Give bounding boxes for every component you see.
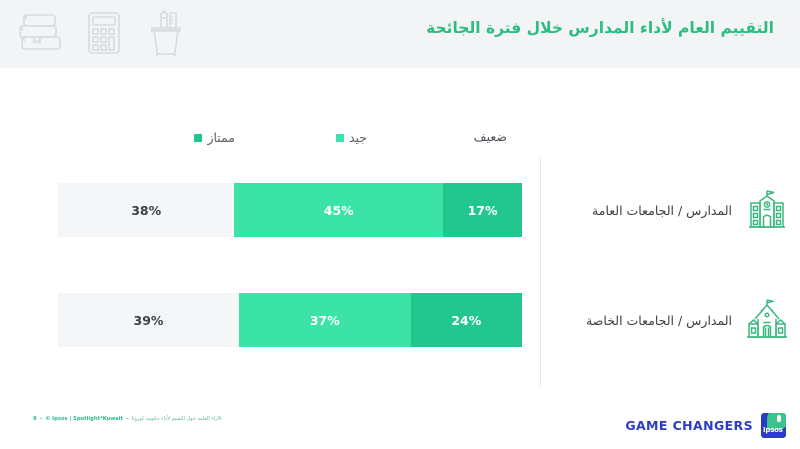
row-label-text-private: المدارس / الجامعات الخاصة [586,313,732,328]
logo-wordmark: Ipsos [763,426,783,434]
legend-item-excellent: ممتاز [194,130,235,145]
footer-arabic-note: الآراء العامة حول التقييم لأداء حكومة كو… [132,416,222,422]
legend-label-weak: ضعيف [474,129,507,144]
bar-segment-good: 37% [239,293,411,347]
stacked-bar-public: 17% 45% 38% [58,183,522,237]
footer-page-number: 8 [33,416,37,422]
brand-block: Ipsos GAME CHANGERS [625,413,786,438]
public-school-building-icon [742,185,792,235]
bar-segment-good: 45% [234,183,443,237]
tagline-game-changers: GAME CHANGERS [625,418,753,433]
ipsos-logo-icon: Ipsos [761,413,786,438]
bar-segment-weak: 39% [58,293,239,347]
bar-segment-excellent: 24% [411,293,522,347]
footer-dash-1: – [40,416,43,422]
legend-item-weak: ضعيف [469,129,507,144]
footer-dash-2: – [126,416,129,422]
logo-dot-shape [777,415,781,422]
bar-segment-excellent: 17% [443,183,522,237]
private-school-building-icon [742,295,792,345]
calculator-icon [82,8,126,58]
legend-swatch-excellent [194,134,202,142]
bar-segment-weak: 38% [58,183,234,237]
legend-item-good: جيد [336,130,367,145]
chart-legend: ممتاز جيد ضعيف [55,128,535,152]
table-row: 24% 37% 39% [0,293,800,349]
legend-label-good: جيد [349,130,367,145]
legend-swatch-good [336,134,344,142]
pencil-cup-icon [144,8,188,58]
row-label-text-public: المدارس / الجامعات العامة [592,203,732,218]
footer: 8 – © Ipsos | Spotlight*Kuwait – الآراء … [0,403,800,449]
row-label-private: المدارس / الجامعات الخاصة [548,293,792,347]
page-title: التقييم العام لأداء المدارس خلال فترة ال… [420,18,780,38]
footer-credit: 8 – © Ipsos | Spotlight*Kuwait – الآراء … [33,416,222,422]
row-label-public: المدارس / الجامعات العامة [548,183,792,237]
footer-copyright: © Ipsos | Spotlight*Kuwait [45,416,123,422]
books-stack-icon [12,8,64,58]
table-row: 17% 45% 38% [0,183,800,239]
header-icon-group [12,8,188,58]
stacked-bar-private: 24% 37% 39% [58,293,522,347]
chart-area: ممتاز جيد ضعيف 17% 45% 38% [0,68,800,403]
legend-label-excellent: ممتاز [207,130,235,145]
header-band: التقييم العام لأداء المدارس خلال فترة ال… [0,0,800,68]
